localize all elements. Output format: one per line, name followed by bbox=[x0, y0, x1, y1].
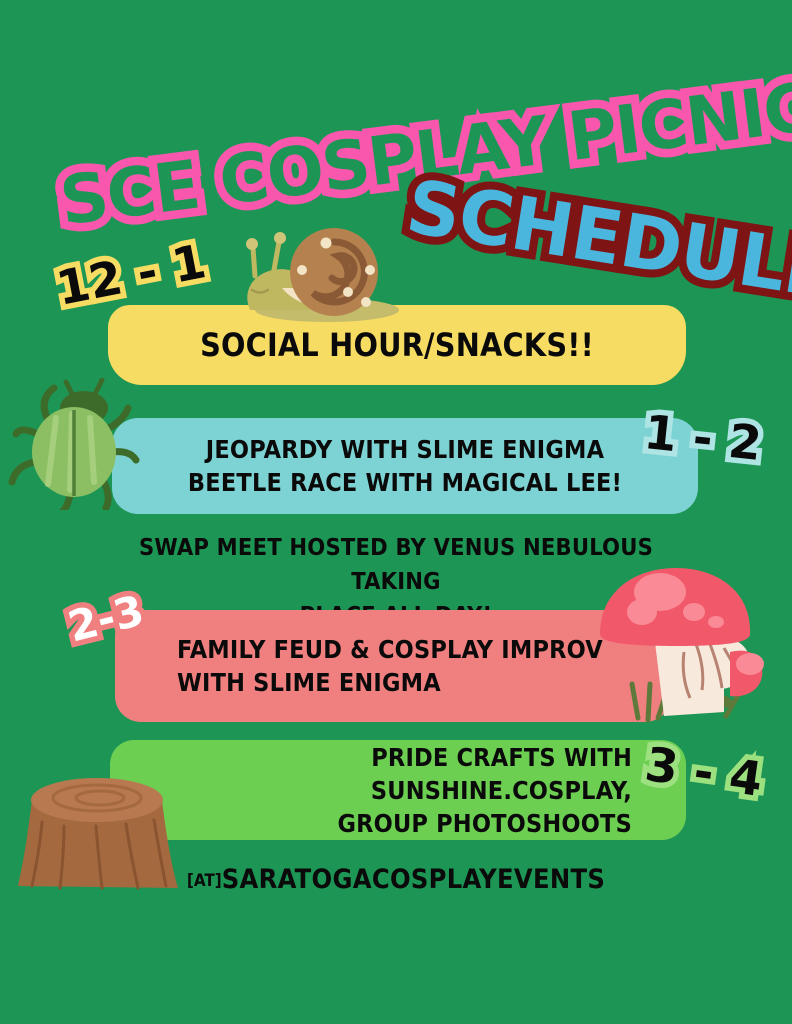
handle-text: SARATOGACOSPLAYEVENTS bbox=[222, 864, 605, 895]
schedule-line: GROUP PHOTOSHOOTS bbox=[110, 807, 632, 840]
schedule-line: JEOPARDY WITH SLIME ENIGMA bbox=[188, 433, 622, 466]
schedule-row-social-hour: SOCIAL HOUR/SNACKS!! bbox=[108, 305, 686, 385]
schedule-line: BEETLE RACE WITH MAGICAL LEE! bbox=[188, 466, 622, 499]
schedule-row-text: PRIDE CRAFTS WITH SUNSHINE.COSPLAY, GROU… bbox=[110, 741, 686, 840]
schedule-row-text: JEOPARDY WITH SLIME ENIGMA BEETLE RACE W… bbox=[188, 433, 622, 499]
social-handle: [AT]SARATOGACOSPLAYEVENTS bbox=[0, 864, 792, 895]
schedule-row-jeopardy-beetle-race: JEOPARDY WITH SLIME ENIGMA BEETLE RACE W… bbox=[112, 418, 698, 514]
schedule-row-text: SOCIAL HOUR/SNACKS!! bbox=[200, 324, 594, 366]
at-label: [AT] bbox=[187, 871, 222, 891]
schedule-row-text: FAMILY FEUD & COSPLAY IMPROV WITH SLIME … bbox=[115, 633, 603, 699]
all-day-note-line-1: SWAP MEET HOSTED BY VENUS NEBULOUS TAKIN… bbox=[96, 530, 696, 598]
title-line-2: SCHEDULE bbox=[402, 172, 792, 309]
schedule-line: FAMILY FEUD & COSPLAY IMPROV bbox=[177, 633, 603, 666]
schedule-row-family-feud-improv: FAMILY FEUD & COSPLAY IMPROV WITH SLIME … bbox=[115, 610, 671, 722]
schedule-line: PRIDE CRAFTS WITH SUNSHINE.COSPLAY, bbox=[110, 741, 632, 807]
schedule-line: SOCIAL HOUR/SNACKS!! bbox=[200, 324, 594, 366]
schedule-row-pride-crafts-photoshoots: PRIDE CRAFTS WITH SUNSHINE.COSPLAY, GROU… bbox=[110, 740, 686, 840]
poster-canvas: SCE COSPLAY PICNIC SCHEDULE SOCIAL HOUR/… bbox=[0, 0, 792, 1024]
schedule-line: WITH SLIME ENIGMA bbox=[177, 666, 603, 699]
page-subtitle: SCHEDULE bbox=[402, 172, 792, 309]
